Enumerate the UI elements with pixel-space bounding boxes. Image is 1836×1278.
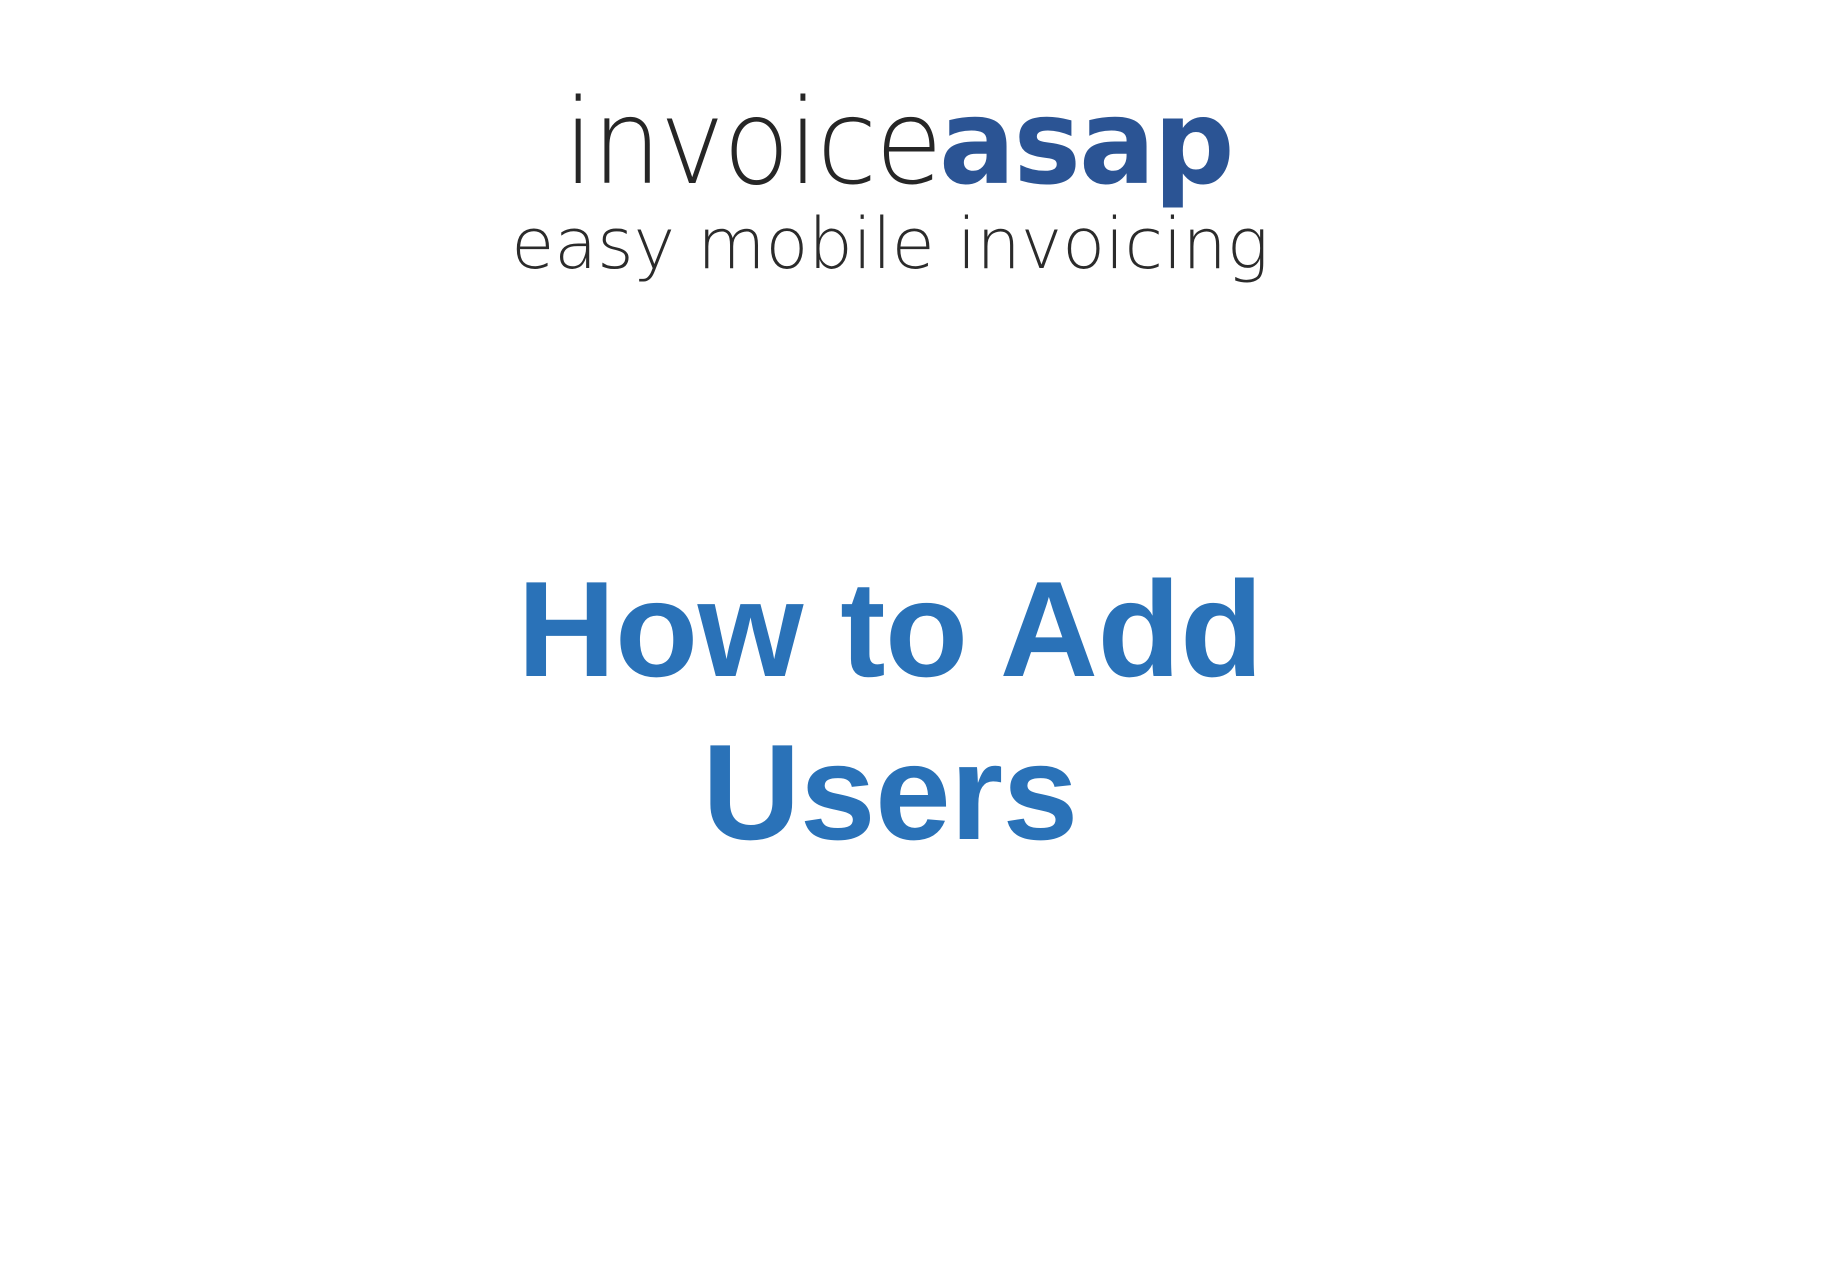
logo-word-invoice: invoice: [563, 82, 940, 202]
invoiceasap-logo: invoiceasap easy mobile invoicing: [0, 82, 1780, 282]
logo-word-asap: asap: [939, 82, 1233, 202]
page-title: How to Add Users: [0, 548, 1780, 874]
logo-wordmark: invoiceasap: [0, 82, 1780, 202]
title-block: How to Add Users: [0, 548, 1780, 874]
page-title-line-2: Users: [0, 711, 1780, 874]
slide-canvas: invoiceasap easy mobile invoicing How to…: [0, 0, 1836, 1278]
page-title-line-1: How to Add: [0, 548, 1780, 711]
logo-tagline: easy mobile invoicing: [0, 208, 1780, 282]
